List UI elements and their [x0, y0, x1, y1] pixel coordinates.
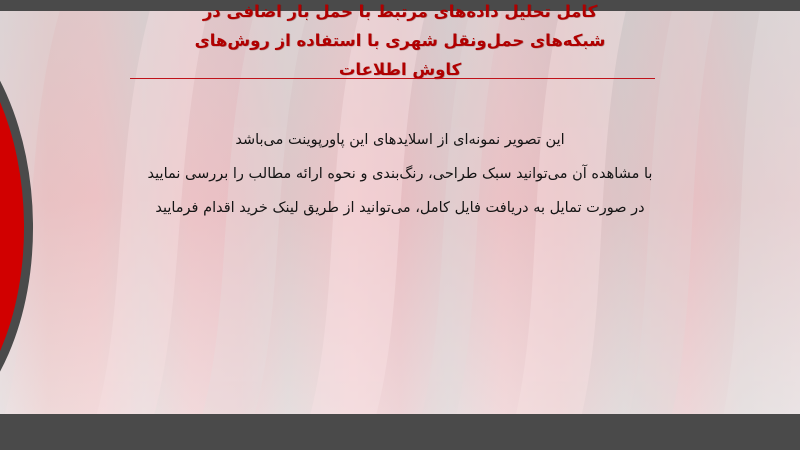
- title-line-1: کامل تحلیل داده‌های مرتبط با حمل بار اضا…: [120, 0, 680, 26]
- slide-title: کامل تحلیل داده‌های مرتبط با حمل بار اضا…: [120, 0, 680, 84]
- body-line-3: در صورت تمایل به دریافت فایل کامل، می‌تو…: [90, 191, 710, 225]
- slide-body-text: این تصویر نمونه‌ای از اسلایدهای این پاور…: [90, 123, 710, 225]
- title-line-3: کاوش اطلاعات: [120, 55, 680, 84]
- presentation-slide: کامل تحلیل داده‌های مرتبط با حمل بار اضا…: [0, 0, 800, 450]
- body-line-2: با مشاهده آن می‌توانید سبک طراحی، رنگ‌بن…: [90, 157, 710, 191]
- title-line-2: شبکه‌های حمل‌ونقل شهری با استفاده از روش…: [120, 26, 680, 55]
- bottom-bar: [0, 414, 800, 450]
- body-line-1: این تصویر نمونه‌ای از اسلایدهای این پاور…: [90, 123, 710, 157]
- red-lens-decoration: [0, 8, 118, 442]
- title-underline-rule: [130, 78, 655, 79]
